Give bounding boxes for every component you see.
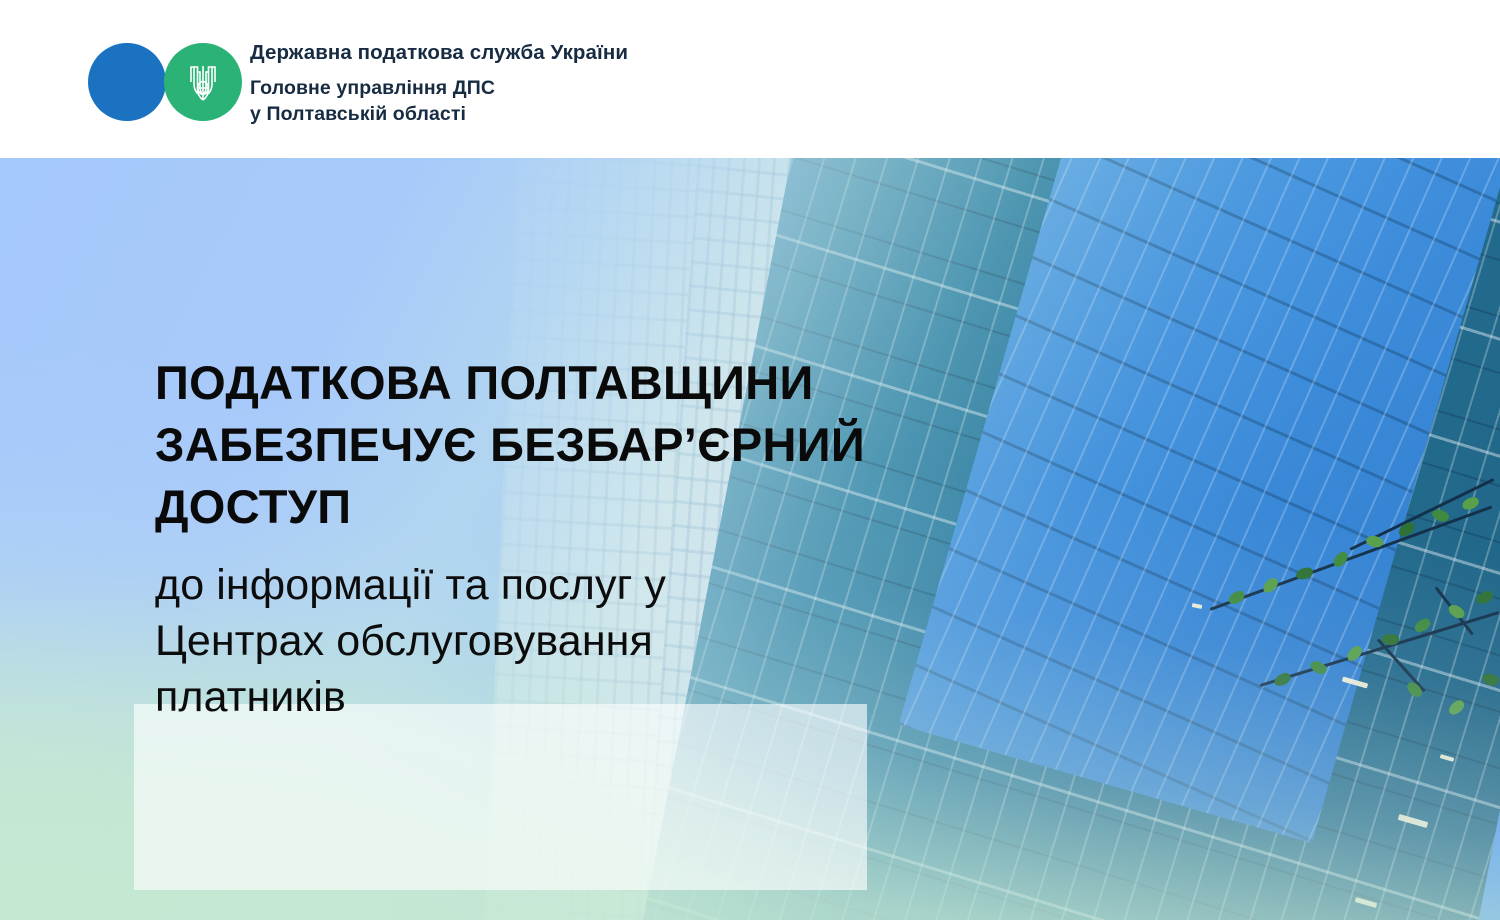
blue-circle-icon [88,43,166,121]
banner-canvas: Державна податкова служба України Головн… [0,0,1500,920]
header-bar: Державна податкова служба України Головн… [0,0,1500,158]
logo-text-block: Державна податкова служба України Головн… [250,38,628,127]
subtitle-panel [134,704,867,890]
department-name-line: Головне управління ДПС [250,76,628,102]
page-subtitle: до інформації та послуг у Центрах обслуг… [155,557,875,725]
agency-name-line: Державна податкова служба України [250,40,628,66]
hero-section [0,158,1500,920]
ukraine-trident-emblem-icon [186,60,220,104]
green-circle-icon [164,43,242,121]
organization-logo: Державна податкова служба України Головн… [88,38,628,127]
region-name-line: у Полтавській області [250,102,628,128]
logo-marks [88,38,228,124]
page-title: ПОДАТКОВА ПОЛТАВЩИНИ ЗАБЕЗПЕЧУЄ БЕЗБАР’Є… [155,352,865,537]
